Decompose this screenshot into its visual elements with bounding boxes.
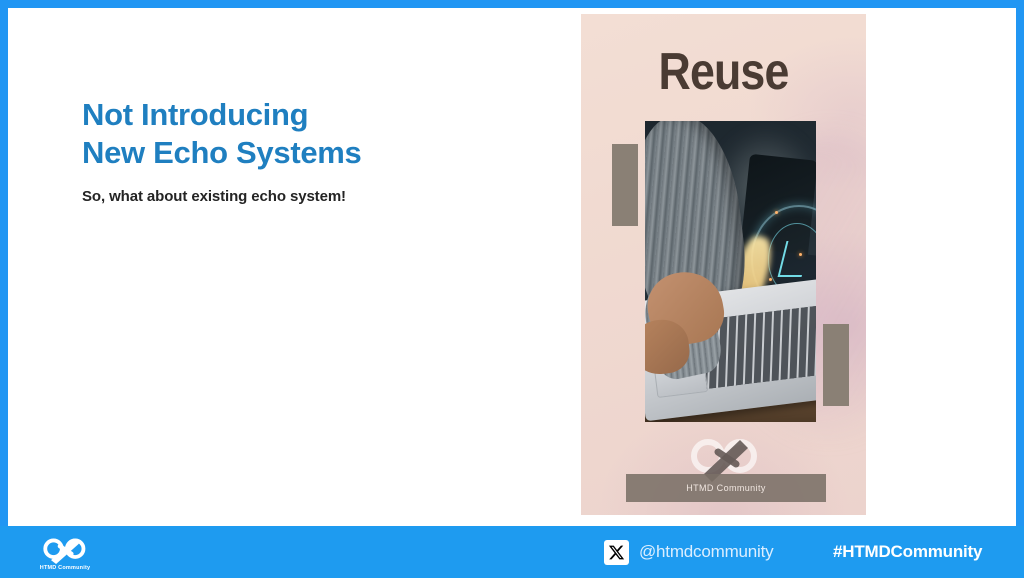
poster-heading: Reuse — [601, 42, 846, 102]
social-handle-text[interactable]: @htmdcommunity — [639, 542, 773, 562]
htmd-community-logo-icon — [35, 536, 95, 564]
x-twitter-icon[interactable] — [604, 540, 629, 565]
footer-bar: HTMD Community @htmdcommunity #HTMDCommu… — [0, 526, 1024, 578]
poster-graphic: Reuse — [581, 14, 866, 515]
decorative-rectangle-right — [823, 324, 849, 406]
page-title-line-2: New Echo Systems — [82, 134, 542, 172]
brand-logo: HTMD Community — [32, 532, 98, 574]
poster-photo — [645, 121, 816, 422]
title-block: Not Introducing New Echo Systems So, wha… — [82, 96, 542, 205]
slide-border-frame: Not Introducing New Echo Systems So, wha… — [0, 0, 1024, 578]
hashtag-text[interactable]: #HTMDCommunity — [833, 526, 982, 578]
brand-logo-text: HTMD Community — [40, 565, 90, 571]
page-title-line-1: Not Introducing — [82, 96, 542, 134]
poster-footer-text: HTMD Community — [686, 483, 766, 493]
slide-canvas: Not Introducing New Echo Systems So, wha… — [8, 8, 1016, 526]
photo-hud-dot-icon — [769, 278, 772, 281]
slide-subtitle: So, what about existing echo system! — [82, 188, 542, 205]
decorative-rectangle-left — [612, 144, 638, 226]
poster-footer-bar: HTMD Community — [626, 474, 826, 502]
social-handle-group[interactable]: @htmdcommunity — [604, 526, 773, 578]
